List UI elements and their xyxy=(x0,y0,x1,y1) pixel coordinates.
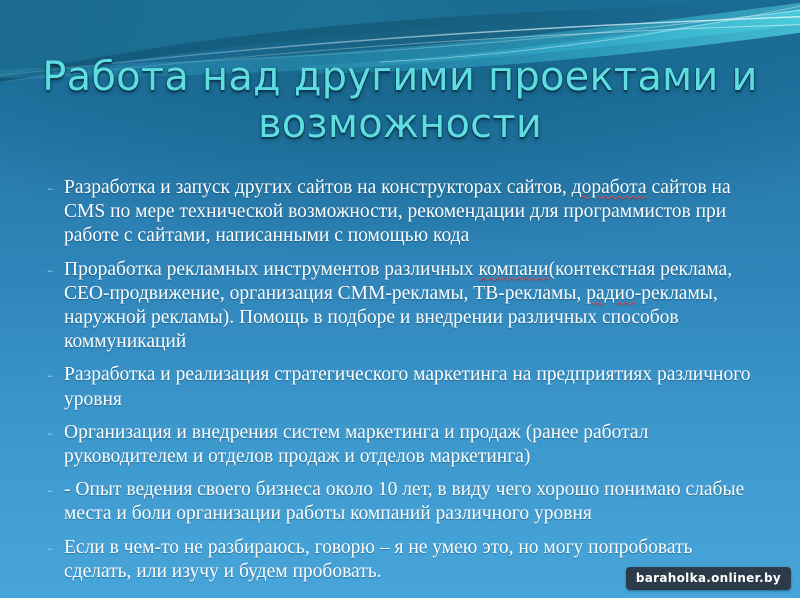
list-item: -- Опыт ведения своего бизнеса около 10 … xyxy=(36,478,764,526)
text-run: Организация и внедрения систем маркетинг… xyxy=(64,422,648,467)
list-item-text: Разработка и запуск других сайтов на кон… xyxy=(64,176,764,249)
spellcheck-misspelled-word: доработа xyxy=(572,177,647,198)
slide-title-container: Работа над другими проектами и возможнос… xyxy=(0,54,800,148)
spellcheck-misspelled-word: радио xyxy=(586,283,635,304)
bullet-marker-icon: - xyxy=(36,421,64,446)
text-run: Разработка и запуск других сайтов на кон… xyxy=(64,177,572,198)
list-item-text: - Опыт ведения своего бизнеса около 10 л… xyxy=(64,478,764,526)
list-item-text: Организация и внедрения систем маркетинг… xyxy=(64,421,764,469)
list-item: -Организация и внедрения систем маркетин… xyxy=(36,421,764,469)
text-run: Разработка и реализация стратегического … xyxy=(64,364,751,409)
list-item-text: Разработка и реализация стратегического … xyxy=(64,363,764,411)
text-run: Если в чем-то не разбираюсь, говорю – я … xyxy=(64,537,692,582)
watermark-badge: baraholka.onliner.by xyxy=(626,567,791,590)
page-title: Работа над другими проектами и возможнос… xyxy=(30,54,770,148)
bullet-marker-icon: - xyxy=(36,176,64,201)
list-item: -Разработка и реализация стратегического… xyxy=(36,363,764,411)
bullet-marker-icon: - xyxy=(36,258,64,283)
spellcheck-misspelled-word: компани xyxy=(478,259,548,280)
list-item-text: Проработка рекламных инструментов различ… xyxy=(64,258,764,355)
bullet-list: -Разработка и запуск других сайтов на ко… xyxy=(36,176,764,584)
bullet-marker-icon: - xyxy=(36,536,64,561)
bullet-marker-icon: - xyxy=(36,363,64,388)
bullet-marker-icon: - xyxy=(36,478,64,503)
presentation-slide: Работа над другими проектами и возможнос… xyxy=(0,0,800,598)
text-run: - Опыт ведения своего бизнеса около 10 л… xyxy=(64,479,744,524)
list-item: -Проработка рекламных инструментов разли… xyxy=(36,258,764,355)
text-run: Проработка рекламных инструментов различ… xyxy=(64,259,478,280)
list-item: -Разработка и запуск других сайтов на ко… xyxy=(36,176,764,249)
